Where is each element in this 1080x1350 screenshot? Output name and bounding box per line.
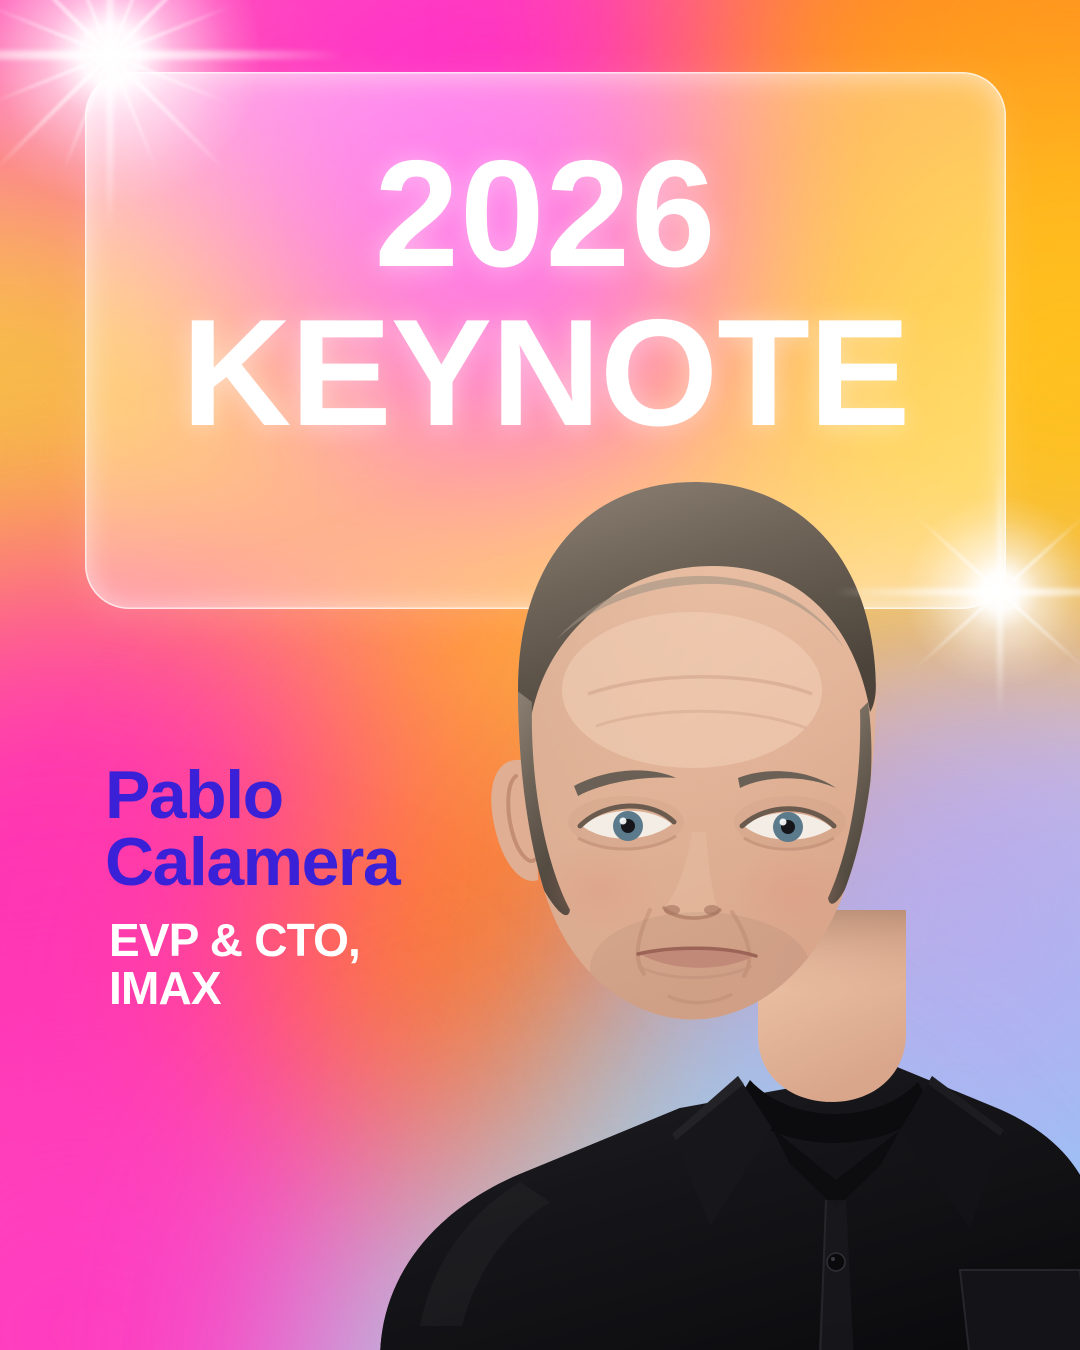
keynote-speaker-poster: 2026 KEYNOTE (0, 0, 1080, 1350)
title-glass-card (85, 72, 1006, 609)
speaker-role: EVP & CTO, IMAX (109, 917, 585, 1013)
speaker-name: Pablo Calamera (105, 762, 585, 895)
speaker-info-block: Pablo Calamera EVP & CTO, IMAX (105, 762, 585, 1013)
